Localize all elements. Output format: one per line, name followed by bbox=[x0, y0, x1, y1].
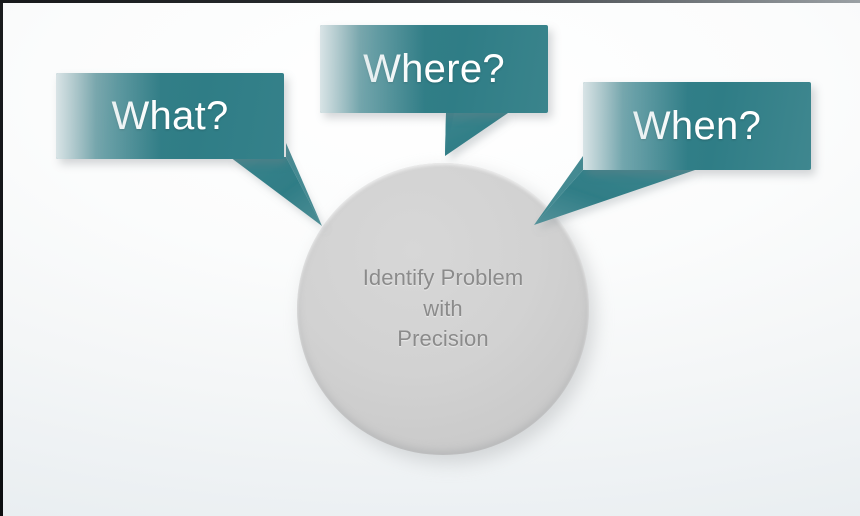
callout-where-bubble: Where? bbox=[320, 25, 548, 113]
callout-what[interactable]: What? bbox=[54, 71, 354, 221]
callout-when-label: When? bbox=[583, 104, 811, 149]
slide-top-border bbox=[0, 0, 860, 3]
callout-what-label: What? bbox=[56, 94, 284, 139]
slide-canvas: Identify Problem with Precision What? bbox=[0, 0, 860, 516]
callout-where[interactable]: Where? bbox=[318, 23, 568, 163]
callout-where-label: Where? bbox=[320, 47, 548, 92]
callout-when-bubble: When? bbox=[583, 82, 811, 170]
slide-left-border bbox=[0, 0, 3, 516]
callout-what-bubble: What? bbox=[56, 73, 284, 159]
callout-when[interactable]: When? bbox=[580, 80, 830, 230]
circle-label: Identify Problem with Precision bbox=[363, 263, 524, 354]
